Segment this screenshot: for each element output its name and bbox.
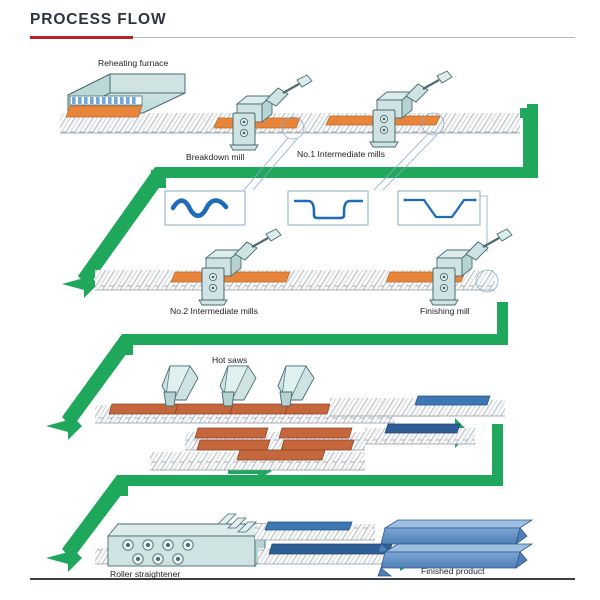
- label-finishing-mill: Finishing mill: [420, 306, 470, 316]
- product-upper: [265, 522, 352, 530]
- flow-path-green: [46, 104, 538, 572]
- hot-saw-1: [162, 366, 198, 406]
- hot-saw-3: [278, 366, 314, 406]
- mill-finishing: [430, 229, 512, 305]
- reheating-furnace: [66, 74, 185, 117]
- profile-box-3: [398, 191, 480, 225]
- bar-cut-1: [195, 428, 268, 438]
- furnace-burner-slots: [72, 97, 136, 104]
- label-hot-saws: Hot saws: [212, 355, 247, 365]
- label-no2-intermediate-mills: No.2 Intermediate mills: [170, 306, 258, 316]
- flow-down-left-1: [78, 167, 166, 287]
- bar-cut-2: [279, 428, 352, 438]
- bar-cut-3: [197, 440, 270, 450]
- roller-straightener: [108, 514, 265, 566]
- hot-saws: [162, 366, 314, 406]
- row-3-group: [95, 366, 505, 470]
- mill-no2-intermediate: [199, 229, 281, 305]
- bar-cut-4: [281, 440, 354, 450]
- mill-breakdown: [230, 75, 312, 150]
- mill-no1-intermediate: [370, 71, 452, 147]
- label-finished-product: Finished product: [421, 566, 485, 576]
- profile-boxes: [165, 191, 487, 252]
- bar-row3-hot: [109, 404, 330, 414]
- label-roller-straightener: Roller straightener: [110, 569, 180, 579]
- row-2-group: [95, 229, 512, 305]
- process-flow-diagram: PROCESS FLOW: [0, 0, 600, 600]
- piece-cooled-1: [415, 396, 490, 405]
- label-no1-intermediate-mills: No.1 Intermediate mills: [297, 149, 385, 159]
- piece-cooled-2: [385, 424, 460, 433]
- diagram-canvas: [0, 0, 600, 600]
- profile-box-2: [288, 191, 368, 225]
- label-breakdown-mill: Breakdown mill: [186, 152, 244, 162]
- bar-cut-5: [237, 450, 325, 460]
- product-straightened: [269, 544, 392, 554]
- profile-box-1: [165, 191, 245, 225]
- hot-saw-2: [220, 366, 256, 406]
- label-reheating-furnace: Reheating furnace: [98, 58, 168, 68]
